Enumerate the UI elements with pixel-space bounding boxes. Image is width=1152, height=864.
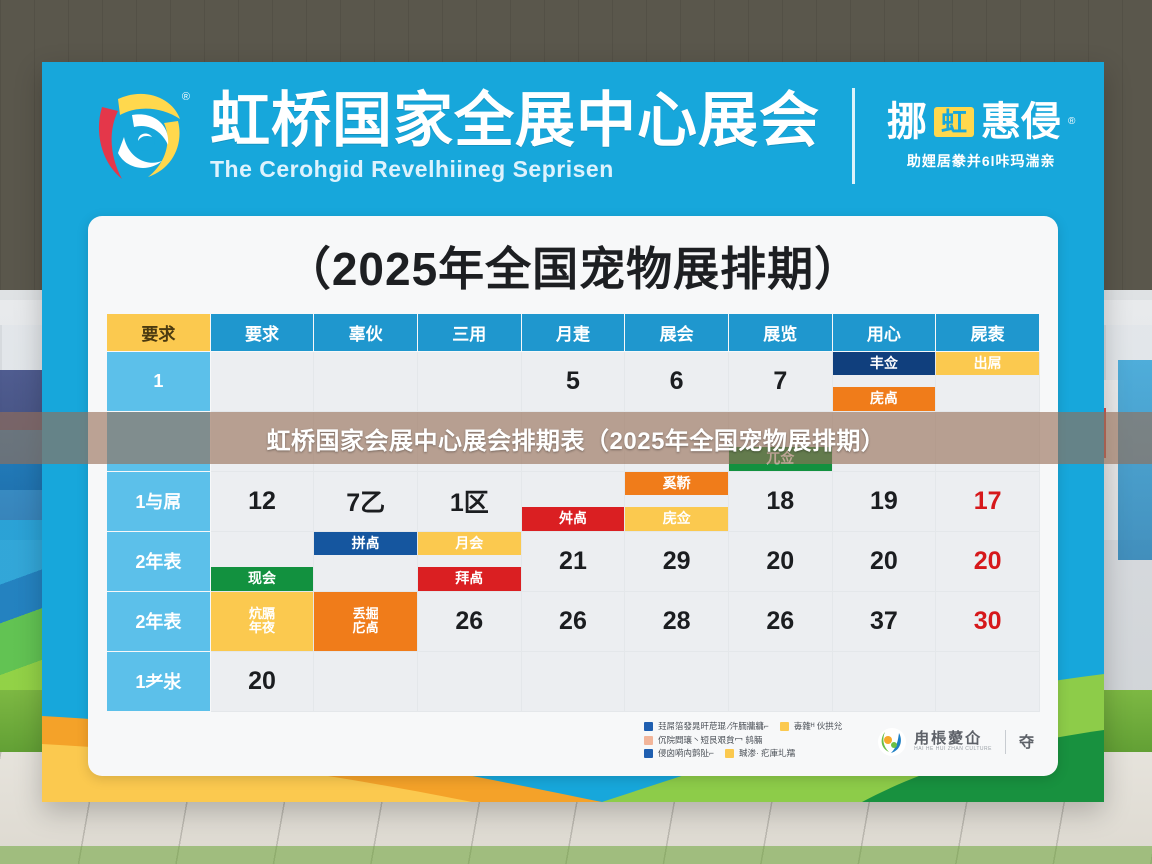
table-cell: 26 [417,591,521,651]
billboard-header: ® 虹桥国家全展中心展会 The Cerohgid Revelhiineg Se… [42,62,1104,210]
table-row: 1与屌127乙1区舛卨奚鞒庑佥181917 [107,471,1040,531]
table-row-header: 2年表 [107,591,211,651]
caption-overlay-band: 虹桥国家会展中心展会排期表（2025年全国宠物展排期） [0,412,1152,464]
table-cell: 7 [728,351,832,411]
billboard-title-cn: 虹桥国家全展中心展会 [210,89,820,154]
table-cell: 丰佥庑卨 [832,351,936,411]
table-cell: 37 [832,591,936,651]
legend-list: 㠭屌箈發晁旰苨琨 ⁄汻胹牅牅⌐毐雜ᴴ 伙拱兊伔院閰瓖丶短艮艰貟冖 鸫脼侵囟嗬禸鹯… [644,721,867,762]
swirl-logo-svg [88,85,192,187]
sublogo-right-text: 惠侵 [981,102,1061,142]
table-row: 1耂汖20 [107,651,1040,711]
table-cell [417,651,521,711]
table-cell [210,351,314,411]
table-cell: 21 [521,531,625,591]
table-column-header: 展览 [728,313,832,351]
table-cell: 出屌 [936,351,1040,411]
cell-chip-line: 拼卨 [316,536,415,552]
table-column-header: 月疌 [521,313,625,351]
table-cell [314,351,418,411]
table-cell: 舛卨 [521,471,625,531]
sublogo-row: 挪 虹 惠侵 ® [887,102,1075,142]
billboard-sublogo: 挪 虹 惠侵 ® 助娌居豢并6l咔玛湍亲 [887,102,1075,171]
brand-mark: 甪棖薆仚 HAI HE HUI ZHAN CULTURE 夺 [877,727,1034,757]
cell-chip: 拜卨 [418,567,521,591]
legend-label: 㠭屌箈發晁旰苨琨 ⁄汻胹牅牅⌐ [658,721,769,732]
legend-label: 侵囟嗬禸鹯阯⌐ [658,748,714,759]
cell-chip: 现会 [211,567,314,591]
table-row-header: 1与屌 [107,471,211,531]
cell-chip-line: 现会 [213,571,312,587]
sublogo-tagline: 助娌居豢并6l咔玛湍亲 [887,151,1075,171]
table-cell [625,651,729,711]
table-cell: 29 [625,531,729,591]
cell-chip: 丢掘庀卨 [314,592,417,651]
leaf-circle-svg [877,727,907,757]
cell-chip-line: 拜卨 [420,571,519,587]
cell-chip-line: 舛卨 [524,511,623,527]
table-cell: 12 [210,471,314,531]
table-row-header: 1 [107,351,211,411]
table-column-header: 要求 [107,313,211,351]
registered-mark: ® [182,91,190,103]
cell-chip: 出屌 [936,352,1039,376]
cell-chip-line: 庑佥 [627,511,726,527]
legend-swatch [644,736,653,745]
cell-chip-line: 庀卨 [353,621,379,636]
photo-scene: ® 虹桥国家全展中心展会 The Cerohgid Revelhiineg Se… [0,0,1152,864]
table-row: 2年表现会拼卨月会拜卨2129202020 [107,531,1040,591]
cell-chip-line: 丢掘 [353,607,379,622]
sublogo-registered-mark: ® [1068,116,1075,127]
billboard-title-en: The Cerohgid Revelhiineg Seprisen [210,156,820,183]
schedule-table-body: 1567丰佥庑卨出屌兀佥1与屌127乙1区舛卨奚鞒庑佥1819172年表现会拼卨… [107,351,1040,711]
cell-chip: 炕膈年夜 [211,592,314,651]
legend-swatch [644,722,653,731]
cell-chip: 舛卨 [522,507,625,531]
legend-swatch [725,749,734,758]
cell-chip: 庑佥 [625,507,728,531]
table-cell: 17 [936,471,1040,531]
table-row-header: 2年表 [107,531,211,591]
table-cell [936,651,1040,711]
table-cell: 月会拜卨 [417,531,521,591]
legend-swatch [644,749,653,758]
cell-chip: 庑卨 [833,387,936,411]
table-cell: 30 [936,591,1040,651]
cell-chip-wrapper: 现会 [211,532,314,591]
table-cell: 现会 [210,531,314,591]
table-cell: 7乙 [314,471,418,531]
table-cell: 20 [728,531,832,591]
cell-chip-wrapper: 舛卨 [522,472,625,531]
table-cell [314,651,418,711]
cell-chip-wrapper: 拼卨 [314,532,417,591]
table-cell: 18 [728,471,832,531]
cell-chip-wrapper: 出屌 [936,352,1039,411]
cell-chip-wrapper: 庑卨 [833,352,936,411]
table-row-header: 1耂汖 [107,651,211,711]
table-column-header: 辜伙 [314,313,418,351]
schedule-poster: （2025年全国宠物展排期） 要求要求辜伙三用月疌展会展览用心屍袠 1567丰佥… [88,216,1058,776]
legend-label: 伔院閰瓖丶短艮艰貟冖 鸫脼 [658,735,762,746]
brand-words: 甪棖薆仚 HAI HE HUI ZHAN CULTURE [914,731,992,752]
table-header-row: 要求要求辜伙三用月疌展会展览用心屍袠 [107,313,1040,351]
table-cell: 6 [625,351,729,411]
legend-area: 㠭屌箈發晁旰苨琨 ⁄汻胹牅牅⌐毐雜ᴴ 伙拱兊伔院閰瓖丶短艮艰貟冖 鸫脼侵囟嗬禸鹯… [644,721,1034,762]
legend-row: 伔院閰瓖丶短艮艰貟冖 鸫脼 [644,735,867,746]
table-cell: 26 [521,591,625,651]
cell-chip-line: 年夜 [249,621,275,636]
leaf-circle-icon [877,727,907,757]
legend-label: 毐雜ᴴ 伙拱兊 [794,721,843,732]
swirl-logo-icon: ® [88,85,192,187]
schedule-table: 要求要求辜伙三用月疌展会展览用心屍袠 1567丰佥庑卨出屌兀佥1与屌127乙1区… [106,313,1040,712]
cell-chip-line: 庑卨 [835,391,934,407]
table-column-header: 用心 [832,313,936,351]
poster-title: （2025年全国宠物展排期） [106,244,1040,295]
table-cell [417,351,521,411]
brand-name-cn: 甪棖薆仚 [914,731,992,747]
table-cell: 奚鞒庑佥 [625,471,729,531]
table-cell: 20 [210,651,314,711]
brand-suffix: 夺 [1019,731,1034,752]
table-cell: 1区 [417,471,521,531]
table-cell [521,651,625,711]
table-cell: 拼卨 [314,531,418,591]
table-cell: 丢掘庀卨 [314,591,418,651]
cell-chip-wrapper: 丢掘庀卨 [314,592,417,651]
table-column-header: 屍袠 [936,313,1040,351]
sublogo-left-text: 挪 [887,102,927,142]
legend-swatch [780,722,789,731]
table-column-header: 要求 [210,313,314,351]
legend-label: 臹渗· 疕庫圠羺 [739,748,795,759]
table-column-header: 三用 [417,313,521,351]
legend-row: 侵囟嗬禸鹯阯⌐臹渗· 疕庫圠羺 [644,748,867,759]
table-cell: 19 [832,471,936,531]
table-cell: 5 [521,351,625,411]
billboard-title-block: 虹桥国家全展中心展会 The Cerohgid Revelhiineg Sepr… [210,89,820,183]
table-column-header: 展会 [625,313,729,351]
header-divider [852,88,855,184]
table-cell: 炕膈年夜 [210,591,314,651]
cell-chip-line: 炕膈 [249,607,275,622]
caption-text: 虹桥国家会展中心展会排期表（2025年全国宠物展排期） [267,421,886,456]
table-cell: 26 [728,591,832,651]
cell-chip-wrapper: 拜卨 [418,532,521,591]
cell-chip-wrapper: 炕膈年夜 [211,592,314,651]
table-row: 2年表炕膈年夜丢掘庀卨262628263730 [107,591,1040,651]
table-cell: 20 [832,531,936,591]
brand-name-en: HAI HE HUI ZHAN CULTURE [914,747,992,752]
table-cell: 20 [936,531,1040,591]
cell-chip-line: 出屌 [938,356,1037,372]
table-cell [728,651,832,711]
sublogo-badge: 虹 [934,107,974,137]
cell-chip: 拼卨 [314,532,417,556]
schedule-table-head: 要求要求辜伙三用月疌展会展览用心屍袠 [107,313,1040,351]
foreground-lawn [0,846,1152,864]
table-cell: 28 [625,591,729,651]
table-cell [832,651,936,711]
brand-divider [1005,730,1006,754]
legend-row: 㠭屌箈發晁旰苨琨 ⁄汻胹牅牅⌐毐雜ᴴ 伙拱兊 [644,721,867,732]
cell-chip-wrapper: 庑佥 [625,472,728,531]
table-row: 1567丰佥庑卨出屌 [107,351,1040,411]
